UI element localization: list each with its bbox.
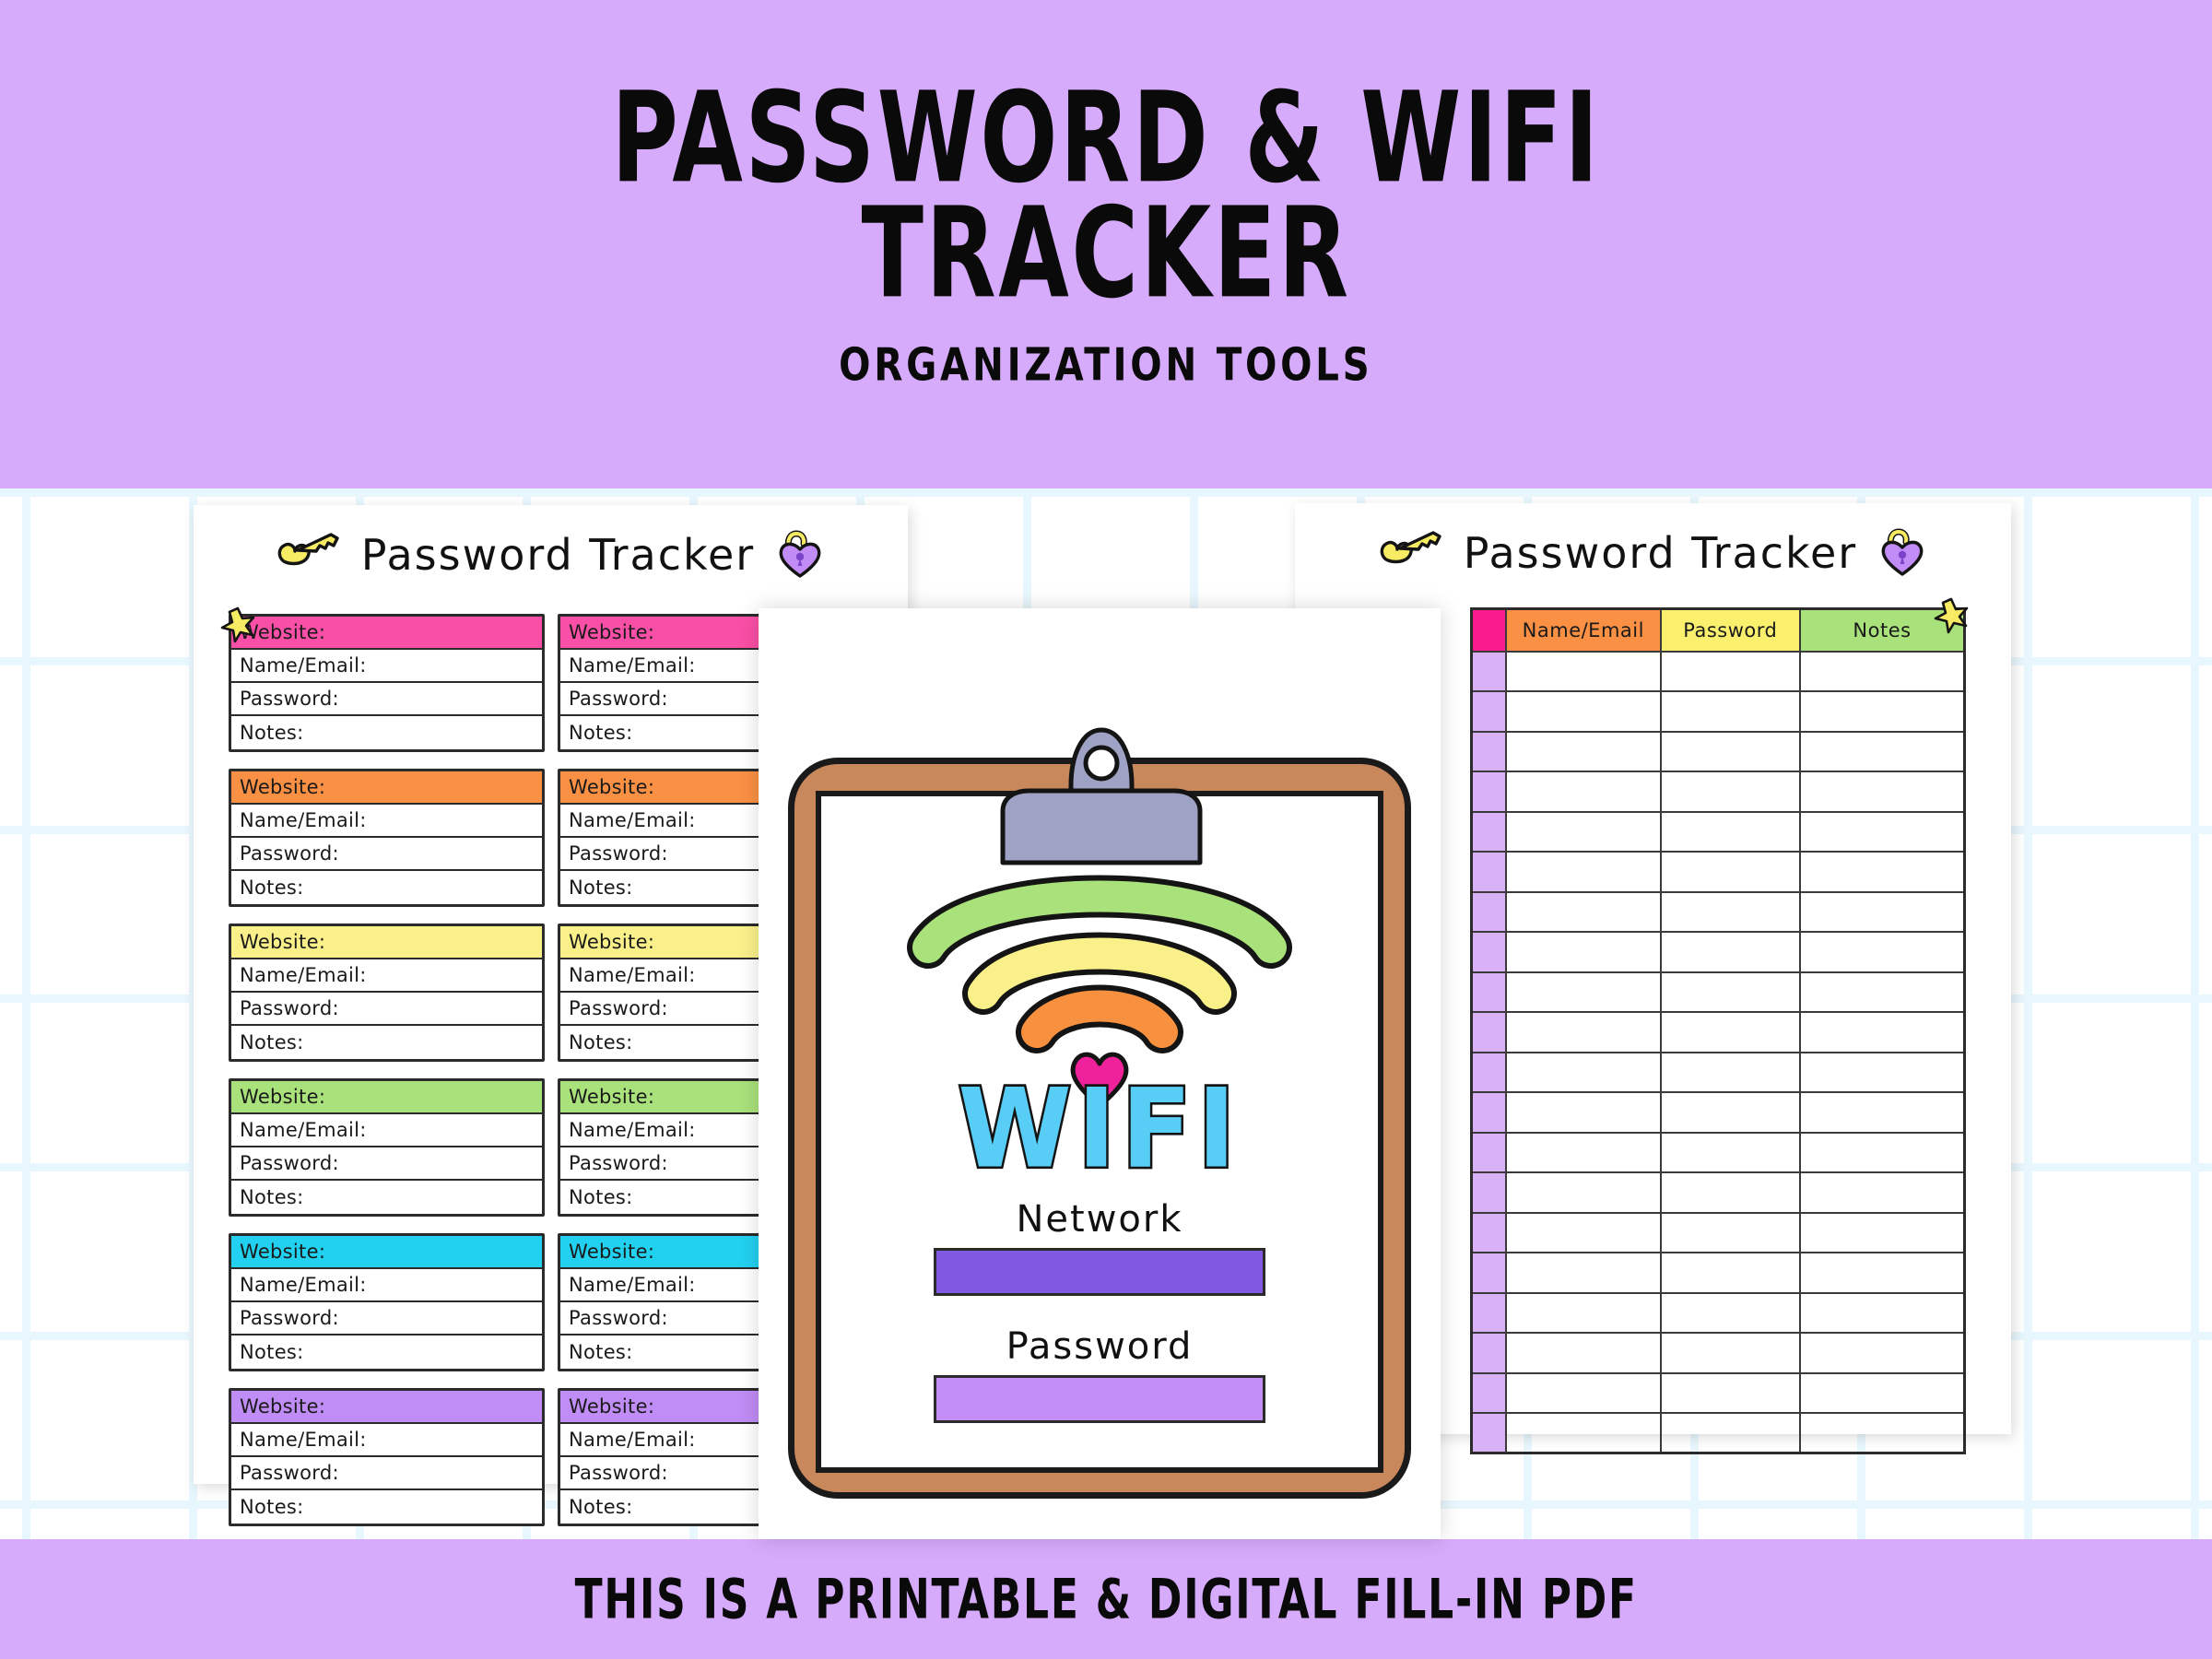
notes-field-row[interactable]: Notes: bbox=[231, 1181, 542, 1214]
password-entries-table: Name/EmailPasswordNotes bbox=[1470, 607, 1966, 1454]
password-field-row[interactable]: Password: bbox=[231, 683, 542, 716]
row-index-cell bbox=[1472, 1333, 1507, 1373]
entry-cell[interactable] bbox=[1506, 932, 1661, 972]
entry-cell[interactable] bbox=[1506, 732, 1661, 772]
entry-cell[interactable] bbox=[1661, 1092, 1800, 1133]
entry-cell[interactable] bbox=[1506, 1373, 1661, 1414]
column-header-password: Password bbox=[1661, 609, 1800, 652]
row-index-cell bbox=[1472, 972, 1507, 1013]
entry-cell[interactable] bbox=[1661, 1053, 1800, 1093]
bottom-banner: THIS IS A PRINTABLE & DIGITAL FILL-IN PD… bbox=[0, 1539, 2212, 1659]
table-row bbox=[1472, 852, 1965, 892]
heart-padlock-icon bbox=[771, 524, 829, 586]
password-field-label: Password bbox=[759, 1325, 1441, 1368]
entry-cell[interactable] bbox=[1800, 732, 1965, 772]
entry-cell[interactable] bbox=[1800, 1253, 1965, 1293]
password-field-row[interactable]: Password: bbox=[231, 838, 542, 871]
page-title-line-2: TRACKER bbox=[611, 197, 1600, 312]
table-row bbox=[1472, 1333, 1965, 1373]
table-row bbox=[1472, 1053, 1965, 1093]
row-index-cell bbox=[1472, 691, 1507, 732]
right-page-title: Password Tracker bbox=[1464, 528, 1857, 578]
table-header-row: Name/EmailPasswordNotes bbox=[1472, 609, 1965, 652]
table-row bbox=[1472, 1172, 1965, 1213]
entry-cell[interactable] bbox=[1506, 1253, 1661, 1293]
password-entry-block: Website:Name/Email:Password:Notes: bbox=[229, 924, 545, 1062]
entry-cell[interactable] bbox=[1661, 852, 1800, 892]
entry-cell[interactable] bbox=[1800, 1373, 1965, 1414]
notes-field-row[interactable]: Notes: bbox=[231, 1335, 542, 1369]
entry-cell[interactable] bbox=[1506, 691, 1661, 732]
row-index-cell bbox=[1472, 1133, 1507, 1173]
key-icon bbox=[273, 529, 345, 582]
entry-cell[interactable] bbox=[1661, 892, 1800, 933]
row-index-cell bbox=[1472, 1373, 1507, 1414]
page-title: PASSWORD & WIFI TRACKER bbox=[611, 82, 1600, 312]
entry-cell[interactable] bbox=[1506, 1172, 1661, 1213]
entry-cell[interactable] bbox=[1800, 771, 1965, 812]
table-body bbox=[1472, 652, 1965, 1453]
row-index-cell bbox=[1472, 932, 1507, 972]
row-index-cell bbox=[1472, 1092, 1507, 1133]
table-row bbox=[1472, 1293, 1965, 1334]
entry-cell[interactable] bbox=[1800, 1092, 1965, 1133]
entry-cell[interactable] bbox=[1661, 1293, 1800, 1334]
table-header: Name/EmailPasswordNotes bbox=[1472, 609, 1965, 652]
password-field-row[interactable]: Password: bbox=[231, 1302, 542, 1335]
entry-cell[interactable] bbox=[1800, 1053, 1965, 1093]
name-email-field-row[interactable]: Name/Email: bbox=[231, 959, 542, 993]
entry-cell[interactable] bbox=[1800, 1333, 1965, 1373]
entry-cell[interactable] bbox=[1661, 1012, 1800, 1053]
entry-cell[interactable] bbox=[1661, 972, 1800, 1013]
password-entry-block: Website:Name/Email:Password:Notes: bbox=[229, 769, 545, 907]
website-field-row[interactable]: Website: bbox=[231, 1236, 542, 1269]
heart-padlock-icon bbox=[1874, 523, 1931, 584]
website-field-row[interactable]: Website: bbox=[231, 1081, 542, 1114]
entry-cell[interactable] bbox=[1800, 652, 1965, 692]
notes-field-row[interactable]: Notes: bbox=[231, 871, 542, 904]
password-entry-block: Website:Name/Email:Password:Notes: bbox=[229, 614, 545, 752]
row-index-cell bbox=[1472, 732, 1507, 772]
entry-cell[interactable] bbox=[1506, 892, 1661, 933]
left-page-header: Password Tracker bbox=[194, 505, 908, 590]
entry-cell[interactable] bbox=[1506, 972, 1661, 1013]
clipboard-icon: WIFI Network Password bbox=[759, 608, 1441, 1539]
website-field-row[interactable]: Website: bbox=[231, 1391, 542, 1424]
row-index-cell bbox=[1472, 892, 1507, 933]
row-index-cell bbox=[1472, 1413, 1507, 1453]
footer-caption: THIS IS A PRINTABLE & DIGITAL FILL-IN PD… bbox=[574, 1567, 1637, 1631]
entry-cell[interactable] bbox=[1661, 1133, 1800, 1173]
entry-cell[interactable] bbox=[1506, 1053, 1661, 1093]
table-row bbox=[1472, 652, 1965, 692]
password-entry-block: Website:Name/Email:Password:Notes: bbox=[229, 1388, 545, 1526]
entry-cell[interactable] bbox=[1661, 1373, 1800, 1414]
entry-cell[interactable] bbox=[1506, 852, 1661, 892]
row-index-cell bbox=[1472, 1172, 1507, 1213]
entry-cell[interactable] bbox=[1800, 1413, 1965, 1453]
table-row bbox=[1472, 1133, 1965, 1173]
entry-cell[interactable] bbox=[1506, 1213, 1661, 1253]
entry-cell[interactable] bbox=[1506, 1133, 1661, 1173]
entry-cell[interactable] bbox=[1800, 892, 1965, 933]
name-email-field-row[interactable]: Name/Email: bbox=[231, 650, 542, 683]
table-row bbox=[1472, 691, 1965, 732]
password-entry-block: Website:Name/Email:Password:Notes: bbox=[229, 1078, 545, 1217]
table-row bbox=[1472, 1012, 1965, 1053]
entry-cell[interactable] bbox=[1506, 812, 1661, 853]
entry-cell[interactable] bbox=[1661, 932, 1800, 972]
table-row bbox=[1472, 1213, 1965, 1253]
wifi-wordmark: WIFI bbox=[759, 1065, 1441, 1193]
entry-cell[interactable] bbox=[1661, 1413, 1800, 1453]
notes-field-row[interactable]: Notes: bbox=[231, 1026, 542, 1059]
password-input-field[interactable] bbox=[934, 1375, 1265, 1423]
entry-cell[interactable] bbox=[1506, 652, 1661, 692]
entry-cell[interactable] bbox=[1661, 732, 1800, 772]
network-field-label: Network bbox=[759, 1198, 1441, 1241]
entry-cell[interactable] bbox=[1661, 1333, 1800, 1373]
table-row bbox=[1472, 892, 1965, 933]
column-header-index bbox=[1472, 609, 1507, 652]
row-index-cell bbox=[1472, 1012, 1507, 1053]
entry-cell[interactable] bbox=[1800, 1012, 1965, 1053]
entry-cell[interactable] bbox=[1506, 1012, 1661, 1053]
notes-field-row[interactable]: Notes: bbox=[231, 1490, 542, 1524]
table-row bbox=[1472, 1413, 1965, 1453]
entry-cell[interactable] bbox=[1661, 1213, 1800, 1253]
entry-cell[interactable] bbox=[1800, 852, 1965, 892]
right-page-header: Password Tracker bbox=[1295, 503, 2011, 588]
column-header-notes: Notes bbox=[1800, 609, 1965, 652]
password-entry-block: Website:Name/Email:Password:Notes: bbox=[229, 1233, 545, 1371]
name-email-field-row[interactable]: Name/Email: bbox=[231, 1114, 542, 1147]
entry-cell[interactable] bbox=[1661, 1172, 1800, 1213]
entry-cell[interactable] bbox=[1800, 1172, 1965, 1213]
row-index-cell bbox=[1472, 1053, 1507, 1093]
entry-cell[interactable] bbox=[1661, 691, 1800, 732]
wifi-signal-icon bbox=[906, 848, 1293, 1060]
network-input-field[interactable] bbox=[934, 1248, 1265, 1296]
website-field-row[interactable]: Website: bbox=[231, 926, 542, 959]
entry-cell[interactable] bbox=[1506, 1092, 1661, 1133]
top-banner: PASSWORD & WIFI TRACKER ORGANIZATION TOO… bbox=[0, 0, 2212, 488]
table-row bbox=[1472, 972, 1965, 1013]
left-page-title: Password Tracker bbox=[361, 530, 755, 580]
name-email-field-row[interactable]: Name/Email: bbox=[231, 1424, 542, 1457]
password-field-row[interactable]: Password: bbox=[231, 1147, 542, 1181]
entry-cell[interactable] bbox=[1800, 812, 1965, 853]
password-field-row[interactable]: Password: bbox=[231, 1457, 542, 1490]
entry-cell[interactable] bbox=[1506, 1333, 1661, 1373]
table-row bbox=[1472, 1092, 1965, 1133]
entry-cell[interactable] bbox=[1661, 771, 1800, 812]
entry-cell[interactable] bbox=[1800, 1213, 1965, 1253]
entry-cell[interactable] bbox=[1800, 972, 1965, 1013]
entry-cell[interactable] bbox=[1800, 1133, 1965, 1173]
entry-cell[interactable] bbox=[1800, 1293, 1965, 1334]
name-email-field-row[interactable]: Name/Email: bbox=[231, 1269, 542, 1302]
table-row bbox=[1472, 1373, 1965, 1414]
row-index-cell bbox=[1472, 1253, 1507, 1293]
entry-cell[interactable] bbox=[1661, 812, 1800, 853]
table-row bbox=[1472, 1253, 1965, 1293]
notes-field-row[interactable]: Notes: bbox=[231, 716, 542, 749]
entry-cell[interactable] bbox=[1506, 1293, 1661, 1334]
entry-cell[interactable] bbox=[1661, 1253, 1800, 1293]
name-email-field-row[interactable]: Name/Email: bbox=[231, 805, 542, 838]
entry-cell[interactable] bbox=[1800, 691, 1965, 732]
table-row bbox=[1472, 771, 1965, 812]
entry-cell[interactable] bbox=[1800, 932, 1965, 972]
page-subtitle: ORGANIZATION TOOLS bbox=[839, 339, 1372, 392]
table-row bbox=[1472, 812, 1965, 853]
row-index-cell bbox=[1472, 771, 1507, 812]
entry-cell[interactable] bbox=[1506, 771, 1661, 812]
table-row bbox=[1472, 732, 1965, 772]
clipboard-clamp-icon bbox=[986, 719, 1217, 866]
center-wifi-card: WIFI Network Password bbox=[759, 608, 1441, 1539]
table-row bbox=[1472, 932, 1965, 972]
column-header-name-email: Name/Email bbox=[1506, 609, 1661, 652]
row-index-cell bbox=[1472, 1213, 1507, 1253]
entry-cell[interactable] bbox=[1661, 652, 1800, 692]
row-index-cell bbox=[1472, 812, 1507, 853]
key-icon bbox=[1375, 527, 1447, 580]
entry-cell[interactable] bbox=[1506, 1413, 1661, 1453]
website-field-row[interactable]: Website: bbox=[231, 617, 542, 650]
row-index-cell bbox=[1472, 852, 1507, 892]
row-index-cell bbox=[1472, 652, 1507, 692]
website-field-row[interactable]: Website: bbox=[231, 771, 542, 805]
row-index-cell bbox=[1472, 1293, 1507, 1334]
left-block-column-1: Website:Name/Email:Password:Notes:Websit… bbox=[229, 614, 545, 1526]
password-field-row[interactable]: Password: bbox=[231, 993, 542, 1026]
